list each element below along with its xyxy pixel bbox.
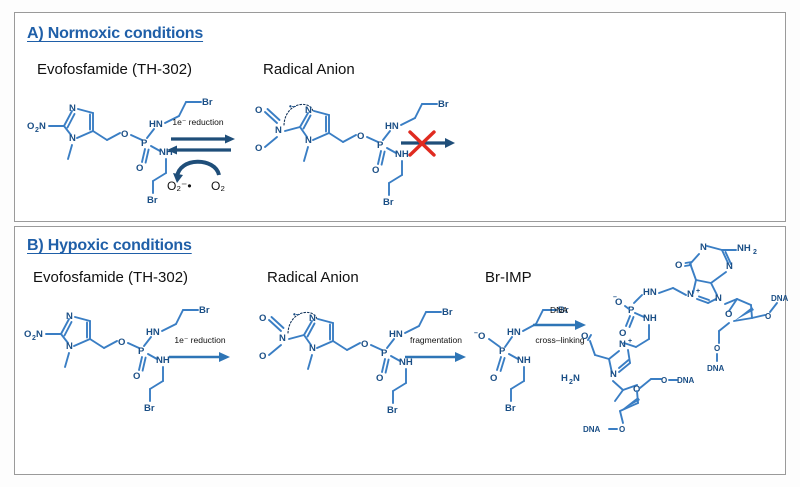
atom-label-o-double-ra-a: O [372, 165, 379, 176]
atom-label-o-nitro-top-a: O [255, 105, 262, 116]
compound-title-br-imp: Br-IMP [485, 269, 532, 286]
atom-label-nitro-a: O [27, 121, 34, 132]
atom-label-n-upper-2: N [726, 261, 733, 272]
atom-label-n1-ra-a: N [305, 135, 312, 146]
atom-label-o-3prime-lower: O [619, 425, 625, 434]
arrow-reduction-b [167, 349, 239, 369]
atom-label-nh-lower-linker: NH [643, 313, 657, 324]
atom-label-hn-a: HN [149, 119, 163, 130]
atom-label-o-upper-carbonyl: O [675, 260, 682, 271]
atom-label-o-double-brimp: O [490, 373, 497, 384]
label-dioxygen-a: O₂ [211, 179, 225, 193]
svg-text:+: + [696, 288, 700, 295]
compound-title-evofosfamide-a: Evofosfamide (TH-302) [37, 61, 192, 78]
atom-label-n7-plus-lower: N [619, 339, 626, 350]
dna-label-upper-left: DNA [707, 364, 725, 373]
atom-label-o-5prime-lower: O [661, 376, 667, 385]
panel-a-heading: A) Normoxic conditions [27, 25, 203, 43]
atom-label-n9-upper: N [715, 293, 722, 304]
structure-dna-crosslink: NH 2 N N O N + N [595, 233, 800, 463]
atom-label-n1-ra-b: N [309, 343, 316, 354]
atom-label-n1-a: N [69, 133, 76, 144]
atom-label-n9-lower: N [610, 369, 617, 380]
atom-label-hn-brimp: HN [507, 327, 521, 338]
dioxygen-text: O₂ [211, 179, 225, 193]
atom-label-n1-b: N [66, 341, 73, 352]
atom-label-h2n-lower: H [561, 373, 568, 384]
atom-label-o-nitro-bot-b: O [259, 351, 266, 362]
atom-label-oxy-anion-crosslink: O [615, 297, 622, 308]
svg-text:+: + [628, 338, 632, 345]
compound-title-evofosfamide-b: Evofosfamide (TH-302) [33, 269, 188, 286]
panel-normoxic: A) Normoxic conditions Evofosfamide (TH-… [14, 12, 786, 222]
dna-label-lower-right: DNA [677, 376, 695, 385]
atom-label-o-double-b: O [133, 371, 140, 382]
dna-label-upper-right: DNA [771, 294, 789, 303]
atom-label-n3-a: N [69, 103, 76, 114]
atom-label-p-a: P [141, 138, 148, 149]
atom-label-br-upper-b: Br [199, 305, 210, 316]
atom-label-nitro-b: O [24, 329, 31, 340]
compound-title-radical-anion-a: Radical Anion [263, 61, 355, 78]
atom-label-br-lower-ra-b: Br [387, 405, 398, 416]
atom-label-o-ester-ra-a: O [357, 131, 364, 142]
svg-text:N: N [573, 373, 580, 384]
atom-label-br-upper-ra-a: Br [438, 99, 449, 110]
panel-b-heading: B) Hypoxic conditions [27, 237, 192, 255]
atom-label-o-sugar-upper: O [725, 309, 732, 320]
atom-label-nh2-upper: NH [737, 243, 751, 254]
superoxide-text: O₂⁻• [167, 179, 192, 193]
atom-label-br-lower-ra-a: Br [383, 197, 394, 208]
arrow-fragmentation [403, 349, 475, 369]
atom-label-p-ra-a: P [377, 140, 384, 151]
atom-label-nh-brimp: NH [517, 355, 531, 366]
atom-label-o-ester-a: O [121, 129, 128, 140]
svg-text:N: N [39, 121, 46, 132]
atom-label-p-ra-b: P [381, 348, 388, 359]
atom-label-br-lower-a: Br [147, 195, 158, 206]
atom-label-n-nitro-a: N [275, 125, 282, 136]
atom-label-hn-b: HN [146, 327, 160, 338]
atom-label-n3-b: N [66, 311, 73, 322]
radical-anion-marker-a: •– [289, 102, 297, 111]
atom-label-o-double-a: O [136, 163, 143, 174]
atom-label-p-b: P [138, 346, 145, 357]
atom-label-o-nitro-bot-a: O [255, 143, 262, 154]
panel-hypoxic: B) Hypoxic conditions Evofosfamide (TH-3… [14, 226, 786, 475]
arrow-label-fragmentation: fragmentation [397, 335, 475, 345]
svg-text:O: O [478, 331, 485, 342]
atom-label-o-5prime-upper: O [714, 344, 720, 353]
atom-label-n3-ra-a: N [305, 105, 312, 116]
atom-label-n-nitro-b: N [279, 333, 286, 344]
atom-label-o-nitro-top-b: O [259, 313, 266, 324]
atom-label-br-upper-a: Br [202, 97, 213, 108]
atom-label-o-double-crosslink: O [619, 328, 626, 339]
arrow-label-reduction-b: 1e⁻ reduction [165, 335, 235, 346]
label-superoxide-a: O₂⁻• [167, 179, 192, 193]
arrow-label-dna: DNA [529, 305, 589, 315]
atom-label-br-lower-brimp: Br [505, 403, 516, 414]
atom-label-n-upper-1: N [700, 242, 707, 253]
svg-text:2: 2 [753, 249, 757, 256]
atom-label-o-ester-b: O [118, 337, 125, 348]
atom-label-o-ester-ra-b: O [361, 339, 368, 350]
atom-label-n3-ra-b: N [309, 313, 316, 324]
figure-canvas: A) Normoxic conditions Evofosfamide (TH-… [0, 0, 800, 487]
atom-label-br-lower-b: Br [144, 403, 155, 414]
radical-anion-marker-b: •– [293, 310, 301, 319]
atom-label-br-upper-ra-b: Br [442, 307, 453, 318]
atom-label-o-double-ra-b: O [376, 373, 383, 384]
arrow-label-reduction-a: 1e⁻ reduction [163, 117, 233, 128]
atom-label-p-crosslink: P [628, 305, 635, 316]
atom-label-o-3prime-upper: O [765, 312, 771, 321]
svg-text:N: N [36, 329, 43, 340]
atom-label-n7-plus-upper: N [687, 289, 694, 300]
dna-label-lower-left: DNA [583, 425, 601, 434]
atom-label-hn-upper-linker: HN [643, 287, 657, 298]
arrow-blocked-fragmentation [397, 123, 467, 163]
compound-title-radical-anion-b: Radical Anion [267, 269, 359, 286]
